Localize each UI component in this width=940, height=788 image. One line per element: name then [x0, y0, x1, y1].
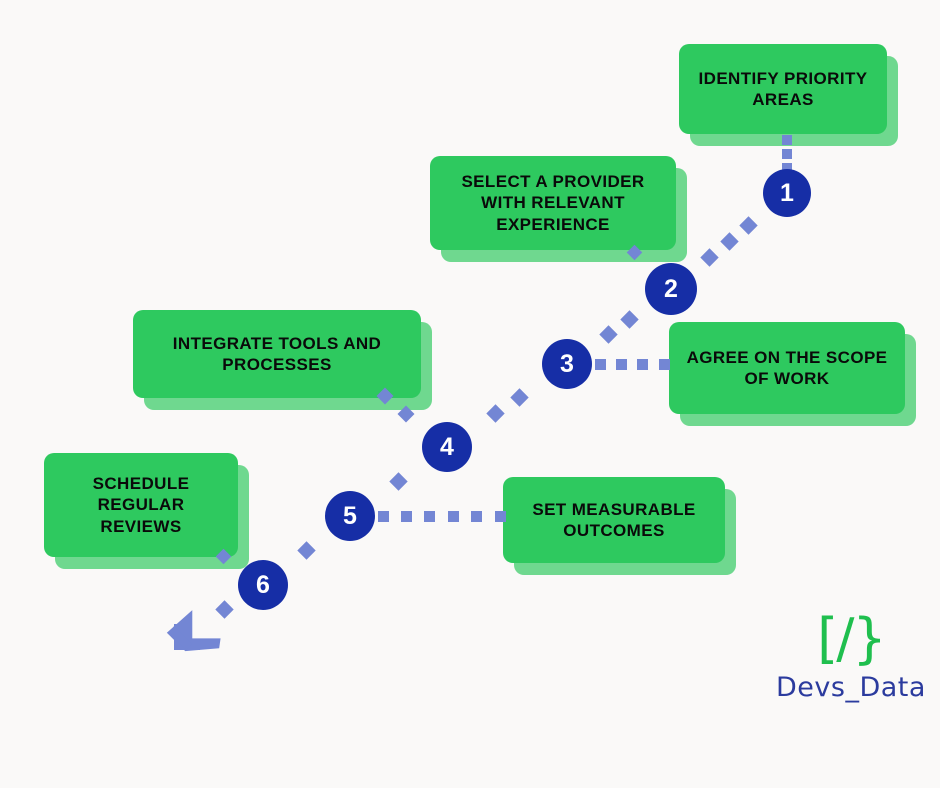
connector-dash	[486, 405, 504, 423]
connector-dash	[495, 511, 506, 522]
step-number-circle-4[interactable]: 4	[422, 422, 472, 472]
connector-dash	[700, 248, 718, 266]
step-box-3[interactable]: AGREE ON THE SCOPE OF WORK	[669, 322, 905, 414]
connector-dash	[471, 511, 482, 522]
step-number-4: 4	[440, 433, 454, 462]
step-number-3: 3	[560, 350, 574, 379]
connector-dash	[616, 359, 627, 370]
step-box-label-6: SCHEDULE REGULAR REVIEWS	[58, 473, 224, 537]
step-box-label-2: SELECT A PROVIDER WITH RELEVANT EXPERIEN…	[444, 171, 662, 235]
brand-logo: [/} Devs_Data	[776, 612, 926, 703]
step-number-circle-3[interactable]: 3	[542, 339, 592, 389]
connector-dash	[620, 310, 638, 328]
connector-dash	[659, 359, 670, 370]
connector-dash	[378, 511, 389, 522]
connector-dash	[297, 541, 315, 559]
step-number-circle-1[interactable]: 1	[763, 169, 811, 217]
connector-dash	[389, 472, 407, 490]
step-number-1: 1	[780, 179, 794, 208]
connector-dash	[599, 325, 617, 343]
step-number-circle-2[interactable]: 2	[645, 263, 697, 315]
step-number-circle-5[interactable]: 5	[325, 491, 375, 541]
step-number-6: 6	[256, 571, 270, 600]
connector-dash	[424, 511, 435, 522]
step-box-label-5: SET MEASURABLE OUTCOMES	[517, 499, 711, 542]
step-number-circle-6[interactable]: 6	[238, 560, 288, 610]
connector-dash	[637, 359, 648, 370]
step-number-5: 5	[343, 502, 357, 531]
brand-name: Devs_Data	[776, 672, 926, 703]
connector-dash	[782, 135, 792, 145]
connector-dash	[720, 232, 738, 250]
step-box-2[interactable]: SELECT A PROVIDER WITH RELEVANT EXPERIEN…	[430, 156, 676, 250]
step-box-label-1: IDENTIFY PRIORITY AREAS	[693, 68, 873, 111]
step-box-1[interactable]: IDENTIFY PRIORITY AREAS	[679, 44, 887, 134]
connector-dash	[782, 149, 792, 159]
code-bracket-icon: [/}	[817, 612, 885, 666]
step-box-label-3: AGREE ON THE SCOPE OF WORK	[683, 347, 891, 390]
connector-dash	[510, 388, 528, 406]
connector-dash	[739, 216, 757, 234]
step-number-2: 2	[664, 275, 678, 304]
step-box-6[interactable]: SCHEDULE REGULAR REVIEWS	[44, 453, 238, 557]
step-box-label-4: INTEGRATE TOOLS AND PROCESSES	[147, 333, 407, 376]
flow-end-arrow-icon	[166, 606, 226, 658]
connector-dash	[448, 511, 459, 522]
diagram-canvas: IDENTIFY PRIORITY AREAS SELECT A PROVIDE…	[0, 0, 940, 788]
step-box-4[interactable]: INTEGRATE TOOLS AND PROCESSES	[133, 310, 421, 398]
step-box-5[interactable]: SET MEASURABLE OUTCOMES	[503, 477, 725, 563]
connector-dash	[401, 511, 412, 522]
connector-dash	[595, 359, 606, 370]
